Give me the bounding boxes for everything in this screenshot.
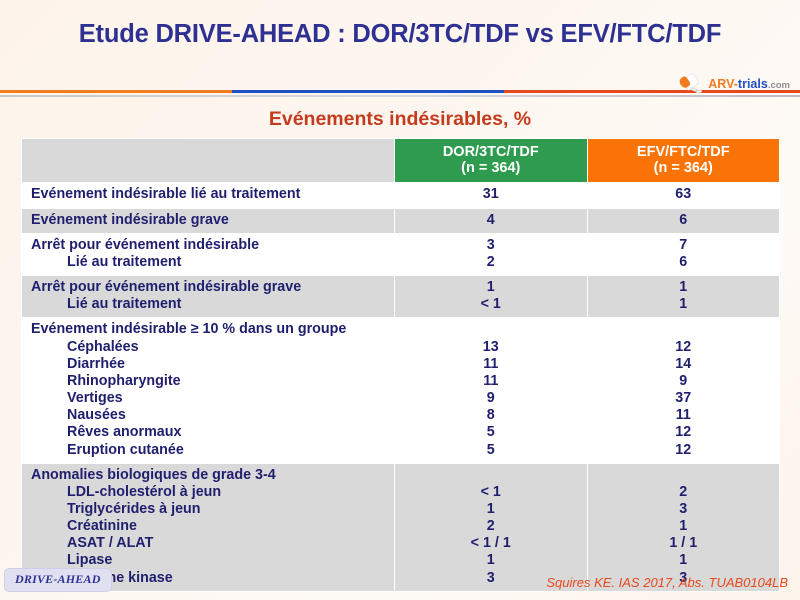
pill-bottle-icon <box>679 73 705 95</box>
page-title: Etude DRIVE-AHEAD : DOR/3TC/TDF vs EFV/F… <box>0 20 800 49</box>
value-arm1: 3 <box>399 237 583 254</box>
value-arm2: 14 <box>592 356 776 373</box>
row-label: Anomalies biologiques de grade 3-4 <box>31 467 388 484</box>
row-sublabel: Créatinine <box>31 518 388 535</box>
row-sublabel: Lié au traitement <box>31 296 388 313</box>
value-arm2: 2 <box>592 484 776 501</box>
row-sublabel: Diarrhée <box>31 356 388 373</box>
value-arm1: 13 <box>399 339 583 356</box>
table-body: Evénement indésirable lié au traitement3… <box>22 183 780 591</box>
table-row: Evénement indésirable grave46 <box>22 208 780 233</box>
value-arm1: 2 <box>399 518 583 535</box>
value-arm1: 1 <box>399 501 583 518</box>
row-sublabel: Nausées <box>31 407 388 424</box>
row-sublabel: Rêves anormaux <box>31 424 388 441</box>
row-sublabel: ASAT / ALAT <box>31 535 388 552</box>
value-arm1: < 1 / 1 <box>399 535 583 552</box>
table-header-row: DOR/3TC/TDF (n = 364) EFV/FTC/TDF (n = 3… <box>22 139 780 183</box>
table-row: Evénement indésirable lié au traitement3… <box>22 183 780 208</box>
row-value-arm1: 4 <box>395 208 588 233</box>
value-arm2: 6 <box>592 254 776 271</box>
value-arm2: 7 <box>592 237 776 254</box>
adverse-events-table-wrap: DOR/3TC/TDF (n = 364) EFV/FTC/TDF (n = 3… <box>21 138 779 592</box>
row-sublabel: Rhinopharyngite <box>31 373 388 390</box>
arm2-sample-size: (n = 364) <box>654 160 713 176</box>
arm1-regimen: DOR/3TC/TDF <box>443 144 539 160</box>
value-arm1: 5 <box>399 442 583 459</box>
row-value-arm2: 63 <box>587 183 780 208</box>
row-sublabel: Eruption cutanée <box>31 442 388 459</box>
row-value-arm2: 6 <box>587 208 780 233</box>
value-arm2 <box>592 467 776 484</box>
value-arm1: 9 <box>399 390 583 407</box>
value-arm2: 1 <box>592 518 776 535</box>
value-arm2: 12 <box>592 442 776 459</box>
row-label: Evénement indésirable ≥ 10 % dans un gro… <box>31 321 388 338</box>
row-label-cell: Arrêt pour événement indésirableLié au t… <box>22 233 395 275</box>
row-label: Arrêt pour événement indésirable <box>31 237 388 254</box>
table-header: DOR/3TC/TDF (n = 364) EFV/FTC/TDF (n = 3… <box>22 139 780 183</box>
table-row: Arrêt pour événement indésirableLié au t… <box>22 233 780 275</box>
value-arm2: 37 <box>592 390 776 407</box>
row-value-arm1: 31 <box>395 183 588 208</box>
value-arm2: 1 <box>592 296 776 313</box>
value-arm1: 1 <box>399 552 583 569</box>
table-header-arm2: EFV/FTC/TDF (n = 364) <box>587 139 780 183</box>
pill-icon <box>696 89 702 93</box>
row-value-arm2: 2311 / 113 <box>587 463 780 591</box>
row-label-cell: Arrêt pour événement indésirable graveLi… <box>22 276 395 318</box>
value-arm2: 3 <box>592 501 776 518</box>
value-arm2: 12 <box>592 424 776 441</box>
value-arm1: < 1 <box>399 484 583 501</box>
value-arm2: 9 <box>592 373 776 390</box>
table-row: Evénement indésirable ≥ 10 % dans un gro… <box>22 318 780 463</box>
row-value-arm2: 1214937111212 <box>587 318 780 463</box>
value-arm1 <box>399 467 583 484</box>
value-arm1: 11 <box>399 373 583 390</box>
table-row: Anomalies biologiques de grade 3-4LDL-ch… <box>22 463 780 591</box>
row-value-arm2: 76 <box>587 233 780 275</box>
row-label-cell: Evénement indésirable grave <box>22 208 395 233</box>
value-arm2 <box>592 321 776 338</box>
value-arm1: 1 <box>399 279 583 296</box>
value-arm2: 63 <box>592 186 776 203</box>
arm2-regimen: EFV/FTC/TDF <box>637 144 730 160</box>
value-arm1: < 1 <box>399 296 583 313</box>
row-sublabel: LDL-cholestérol à jeun <box>31 484 388 501</box>
arv-trials-logo: ARV-trials.com <box>679 72 790 96</box>
row-label: Evénement indésirable grave <box>31 212 388 229</box>
value-arm1: 2 <box>399 254 583 271</box>
row-sublabel: Lié au traitement <box>31 254 388 271</box>
divider-segment-orange-left <box>0 90 232 93</box>
section-subtitle: Evénements indésirables, % <box>0 108 800 131</box>
value-arm2: 6 <box>592 212 776 229</box>
table-header-arm1: DOR/3TC/TDF (n = 364) <box>395 139 588 183</box>
logo-text-trials: trials <box>738 77 768 91</box>
value-arm2: 11 <box>592 407 776 424</box>
row-value-arm1: 1< 1 <box>395 276 588 318</box>
row-label-cell: Evénement indésirable ≥ 10 % dans un gro… <box>22 318 395 463</box>
row-value-arm1: 32 <box>395 233 588 275</box>
table-row: Arrêt pour événement indésirable graveLi… <box>22 276 780 318</box>
value-arm2: 1 <box>592 552 776 569</box>
logo-text-com: .com <box>768 80 790 91</box>
value-arm2: 1 / 1 <box>592 535 776 552</box>
row-value-arm2: 11 <box>587 276 780 318</box>
logo-text-arv: ARV- <box>708 77 738 91</box>
table-header-blank <box>22 139 395 183</box>
value-arm1 <box>399 321 583 338</box>
row-sublabel: Vertiges <box>31 390 388 407</box>
arm1-sample-size: (n = 364) <box>461 160 520 176</box>
value-arm1: 31 <box>399 186 583 203</box>
divider-segment-blue <box>232 90 504 93</box>
row-label: Evénement indésirable lié au traitement <box>31 186 388 203</box>
value-arm1: 4 <box>399 212 583 229</box>
row-label-cell: Evénement indésirable lié au traitement <box>22 183 395 208</box>
value-arm1: 8 <box>399 407 583 424</box>
reference-citation: Squires KE. IAS 2017, Abs. TUAB0104LB <box>546 575 788 590</box>
row-value-arm1: 1311119855 <box>395 318 588 463</box>
study-badge: DRIVE-AHEAD <box>4 568 112 592</box>
value-arm2: 12 <box>592 339 776 356</box>
row-label: Arrêt pour événement indésirable grave <box>31 279 388 296</box>
row-sublabel: Céphalées <box>31 339 388 356</box>
value-arm1: 5 <box>399 424 583 441</box>
row-sublabel: Triglycérides à jeun <box>31 501 388 518</box>
logo-wordmark: ARV-trials.com <box>708 77 790 91</box>
row-value-arm1: < 112< 1 / 113 <box>395 463 588 591</box>
adverse-events-table: DOR/3TC/TDF (n = 364) EFV/FTC/TDF (n = 3… <box>21 138 780 592</box>
value-arm2: 1 <box>592 279 776 296</box>
value-arm1: 11 <box>399 356 583 373</box>
